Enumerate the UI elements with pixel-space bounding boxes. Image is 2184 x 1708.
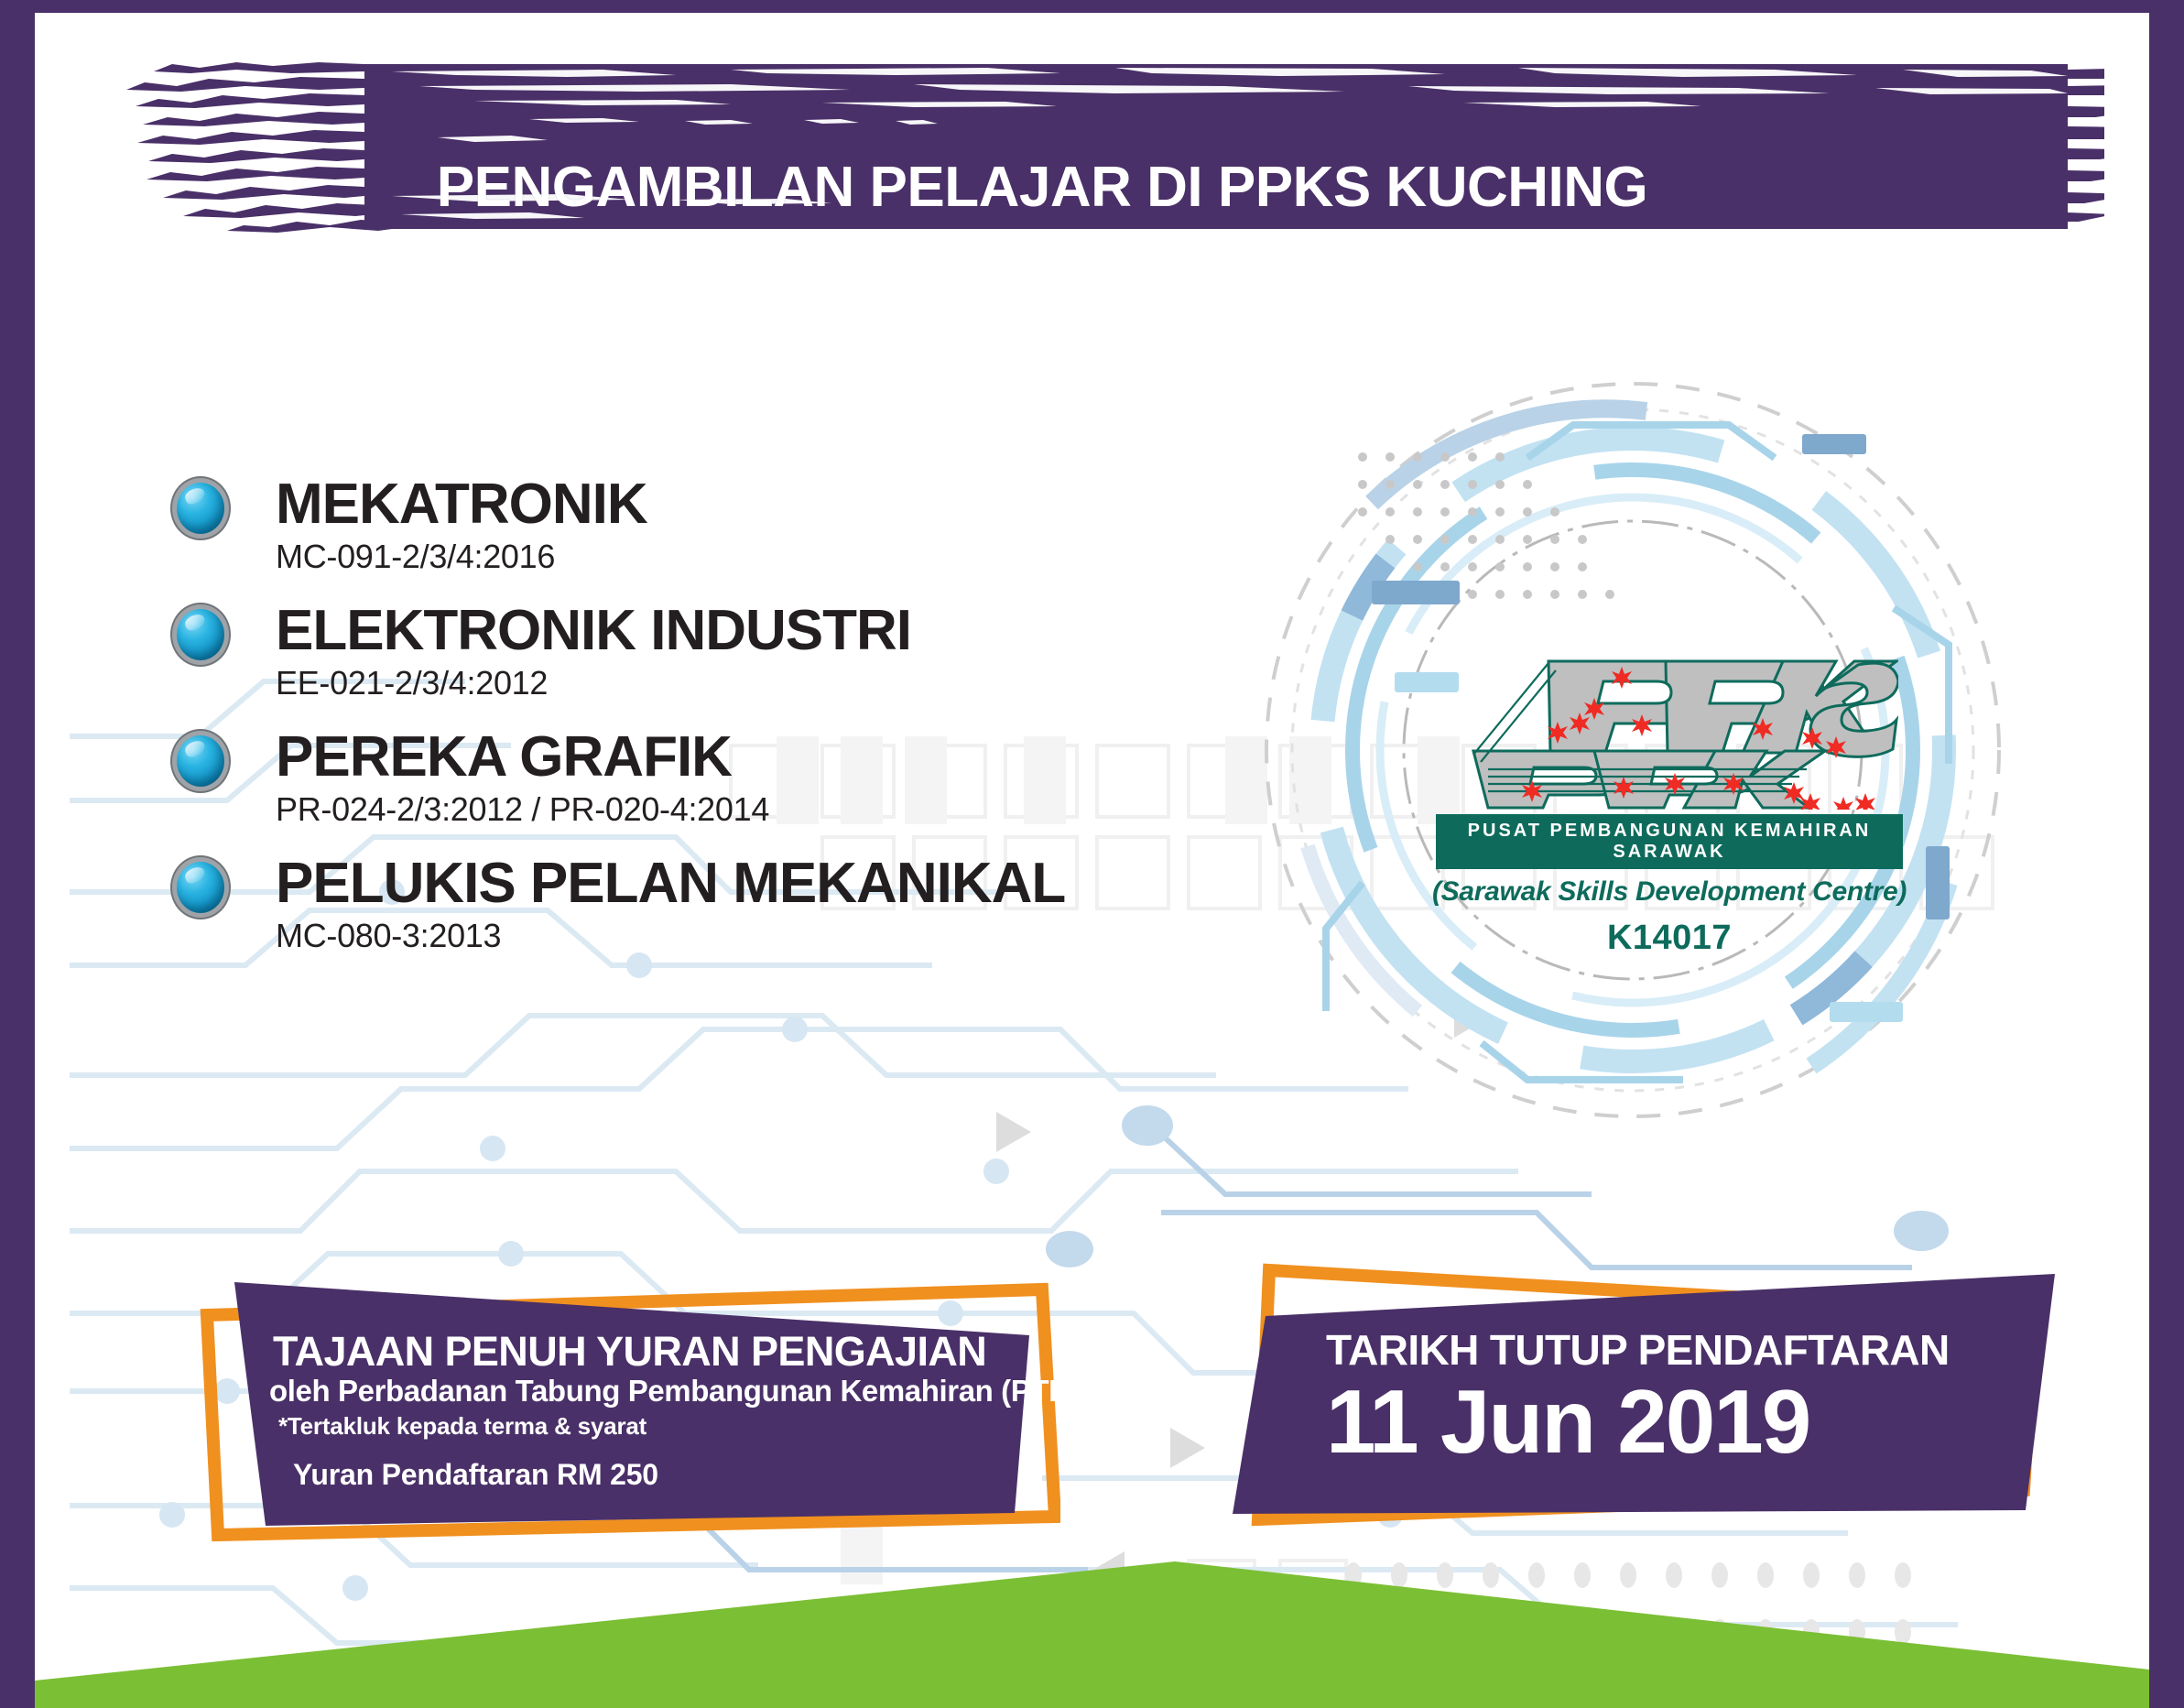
course-code: EE-021-2/3/4:2012 bbox=[276, 663, 1321, 702]
ppks-logo: PUSAT PEMBANGUNAN KEMAHIRAN SARAWAK (Sar… bbox=[1427, 645, 1912, 958]
list-item: ELEKTRONIK INDUSTRI EE-021-2/3/4:2012 bbox=[177, 602, 1321, 704]
course-name: PELUKIS PELAN MEKANIKAL bbox=[276, 854, 1321, 912]
sponsorship-title: TAJAAN PENUH YURAN PENGAJIAN bbox=[273, 1328, 986, 1376]
ppks-wordmark-icon bbox=[1440, 645, 1898, 810]
logo-accreditation-code: K14017 bbox=[1427, 919, 1912, 958]
sponsorship-subtitle: oleh Perbadanan Tabung Pembangunan Kemah… bbox=[269, 1374, 1100, 1409]
blue-sphere-bullet-icon bbox=[177, 735, 224, 787]
course-name: PEREKA GRAFIK bbox=[276, 728, 1321, 786]
list-item: PELUKIS PELAN MEKANIKAL MC-080-3:2013 bbox=[177, 854, 1321, 957]
course-code: MC-091-2/3/4:2016 bbox=[276, 537, 1321, 576]
logo-subtitle: (Sarawak Skills Development Centre) bbox=[1427, 876, 1912, 908]
sponsorship-terms-note: *Tertakluk kepada terma & syarat bbox=[278, 1412, 647, 1441]
list-item: MEKATRONIK MC-091-2/3/4:2016 bbox=[177, 475, 1321, 578]
blue-sphere-bullet-icon bbox=[177, 483, 224, 534]
green-chevron-shape bbox=[35, 1561, 2149, 1708]
closing-date-banner-text: TARIKH TUTUP PENDAFTARAN 11 Jun 2019 bbox=[1225, 1254, 2086, 1528]
sponsorship-banner: TAJAAN PENUH YURAN PENGAJIAN oleh Perbad… bbox=[190, 1267, 1060, 1542]
list-item: PEREKA GRAFIK PR-024-2/3:2012 / PR-020-4… bbox=[177, 728, 1321, 831]
logo-tagline-bar: PUSAT PEMBANGUNAN KEMAHIRAN SARAWAK bbox=[1436, 814, 1903, 869]
course-code: PR-024-2/3:2012 / PR-020-4:2014 bbox=[276, 789, 1321, 829]
closing-date-banner: TARIKH TUTUP PENDAFTARAN 11 Jun 2019 bbox=[1225, 1254, 2086, 1528]
blue-sphere-bullet-icon bbox=[177, 609, 224, 660]
closing-date-value: 11 Jun 2019 bbox=[1326, 1376, 1809, 1466]
course-list: MEKATRONIK MC-091-2/3/4:2016 ELEKTRONIK … bbox=[177, 475, 1321, 981]
closing-date-title: TARIKH TUTUP PENDAFTARAN bbox=[1326, 1325, 1950, 1375]
poster-root: PENGAMBILAN PELAJAR DI PPKS KUCHING MEKA… bbox=[0, 0, 2184, 1708]
sponsorship-banner-text: TAJAAN PENUH YURAN PENGAJIAN oleh Perbad… bbox=[190, 1267, 1060, 1542]
course-name: MEKATRONIK bbox=[276, 475, 1321, 533]
course-code: MC-080-3:2013 bbox=[276, 916, 1321, 955]
course-name: ELEKTRONIK INDUSTRI bbox=[276, 602, 1321, 659]
blue-sphere-bullet-icon bbox=[177, 862, 224, 913]
registration-fee: Yuran Pendaftaran RM 250 bbox=[293, 1458, 658, 1492]
page-title: PENGAMBILAN PELAJAR DI PPKS KUCHING bbox=[35, 155, 2049, 220]
poster-canvas: PENGAMBILAN PELAJAR DI PPKS KUCHING MEKA… bbox=[35, 13, 2149, 1708]
